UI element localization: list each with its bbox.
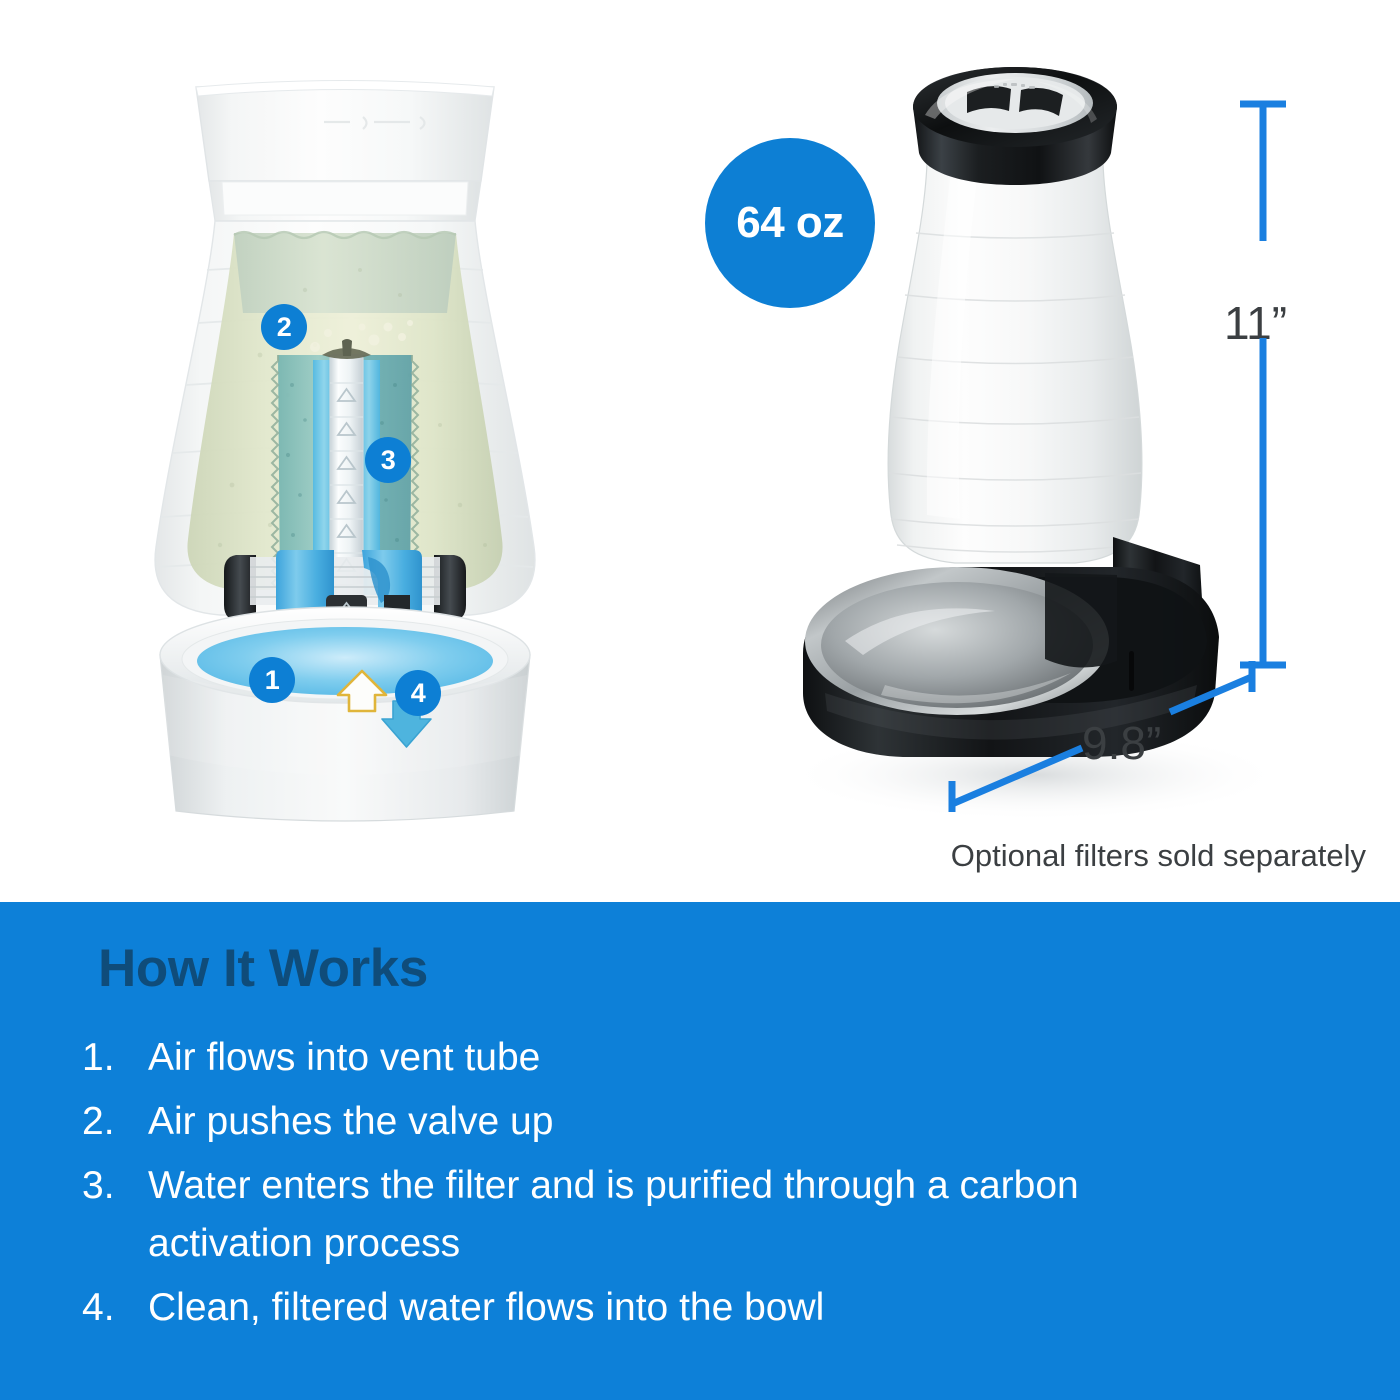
list-item: 1. Air flows into vent tube [82,1029,1332,1087]
list-item: 4. Clean, filtered water flows into the … [82,1279,1332,1337]
width-dimension-label: 9.8” [1082,716,1161,770]
how-it-works-panel: How It Works 1. Air flows into vent tube… [0,902,1400,1400]
product-illustration-area: 1 2 3 4 [0,0,1400,902]
infographic-page: 1 2 3 4 [0,0,1400,1400]
step-text: Water enters the filter and is purified … [148,1157,1148,1273]
step-number: 2. [82,1093,148,1151]
lid-shell [196,87,494,181]
list-item: 2. Air pushes the valve up [82,1093,1332,1151]
how-it-works-steps: 1. Air flows into vent tube 2. Air pushe… [82,1029,1332,1343]
step-number: 1. [82,1029,148,1087]
capacity-badge: 64 oz [705,138,875,308]
base-slot [1129,651,1134,691]
step-text: Air flows into vent tube [148,1029,1148,1087]
step-marker-1: 1 [249,657,295,703]
bowl-divider [1045,573,1117,668]
list-item: 3. Water enters the filter and is purifi… [82,1157,1332,1273]
filters-footnote: Optional filters sold separately [951,838,1366,874]
cutaway-diagram [110,55,580,845]
step-text: Air pushes the valve up [148,1093,1148,1151]
step-marker-2: 2 [261,304,307,350]
step-marker-3: 3 [365,437,411,483]
step-marker-4: 4 [395,670,441,716]
step-text: Clean, filtered water flows into the bow… [148,1279,1148,1337]
height-dimension-label: 11” [1224,296,1287,350]
step-number: 3. [82,1157,148,1215]
how-it-works-title: How It Works [98,938,428,999]
water-pool [197,627,493,695]
step-number: 4. [82,1279,148,1337]
